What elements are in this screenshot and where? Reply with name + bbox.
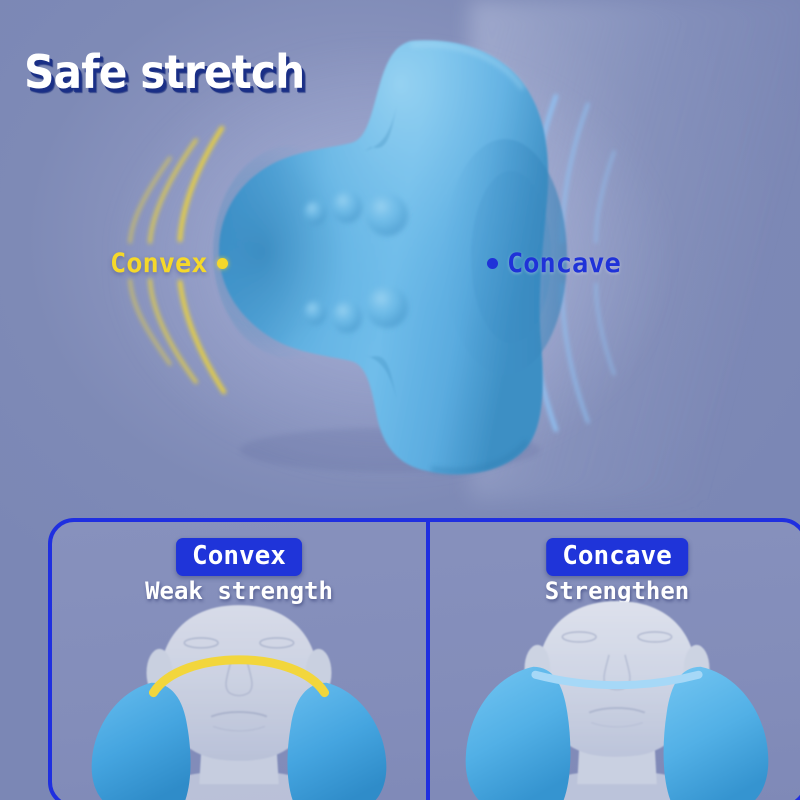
- callout-concave: Concave: [487, 248, 621, 279]
- pillow-wing-left: [92, 683, 191, 800]
- figure-concave-head: [430, 600, 800, 800]
- callout-concave-label: Concave: [507, 248, 621, 279]
- callout-concave-dot: [487, 258, 498, 269]
- callout-convex-dot: [217, 258, 228, 269]
- compare-panel-convex: Convex Weak strength: [52, 522, 426, 800]
- callout-convex: Convex: [110, 248, 228, 279]
- badge-convex: Convex: [176, 538, 302, 576]
- badge-concave: Concave: [546, 538, 688, 576]
- pillow-wing-right: [664, 667, 769, 800]
- callout-convex-label: Convex: [110, 248, 208, 279]
- compare-panel-concave: Concave Strengthen: [426, 522, 800, 800]
- pillow-wing-right: [287, 683, 386, 800]
- figure-convex-head: [52, 600, 426, 800]
- pillow-wing-left: [466, 667, 571, 800]
- comparison-frame: Convex Weak strength: [48, 518, 800, 800]
- infographic-canvas: Safe stretch: [0, 0, 800, 800]
